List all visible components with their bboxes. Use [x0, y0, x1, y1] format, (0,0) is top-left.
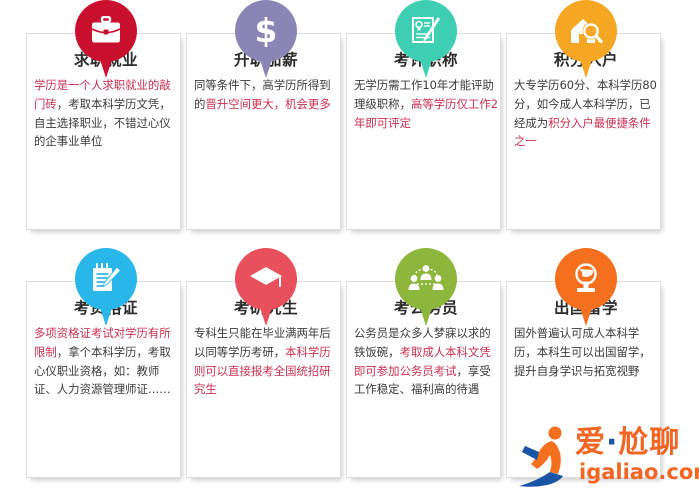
card-body: 无学历需工作10年才能评助理级职称，高等学历仅工作2年即可评定 — [354, 76, 499, 132]
card-text-highlight: 晋升空间更大，机会更多 — [205, 97, 330, 111]
card-body: 国外普遍认可成人本科学历，本科生可以出国留学，提升自身学识与拓宽视野 — [514, 324, 659, 380]
card-body: 大专学历60分、本科学历80分，如今成人本科学历，已经成为积分入户最便捷条件之一 — [514, 76, 659, 151]
card-qualification-certificate[interactable]: 考资格证 多项资格证考试对学历有所限制，拿个本科学历，考取心仪职业资格，如：教师… — [26, 248, 186, 498]
card-body: 专科生只能在毕业满两年后以同等学历考研，本科学历则可以直接报考全国统招研究生 — [194, 324, 339, 399]
infographic-board: 求职就业 学历是一个人求职就业的敲门砖，考取本科学历文凭，自主选择职业，不错过心… — [0, 0, 699, 500]
card-body: 公务员是众多人梦寐以求的铁饭碗，考取成人本科文凭即可参加公务员考试，享受工作稳定… — [354, 324, 499, 399]
card-body: 学历是一个人求职就业的敲门砖，考取本科学历文凭，自主选择职业，不错过心仪的企事业… — [34, 76, 179, 151]
card-body: 多项资格证考试对学历有所限制，拿个本科学历，考取心仪职业资格，如：教师证、人力资… — [34, 324, 179, 399]
card-title: 考公务员 — [346, 296, 506, 318]
card-title: 考资格证 — [26, 296, 186, 318]
card-title: 升职加薪 — [186, 48, 346, 70]
card-body: 同等条件下，高学历所得到的晋升空间更大，机会更多 — [194, 76, 339, 114]
card-professional-title[interactable]: 考评职称 无学历需工作10年才能评助理级职称，高等学历仅工作2年即可评定 — [346, 0, 506, 250]
card-title: 考评职称 — [346, 48, 506, 70]
card-job-employment[interactable]: 求职就业 学历是一个人求职就业的敲门砖，考取本科学历文凭，自主选择职业，不错过心… — [26, 0, 186, 250]
card-row-2: 考资格证 多项资格证考试对学历有所限制，拿个本科学历，考取心仪职业资格，如：教师… — [0, 248, 699, 498]
card-row-1: 求职就业 学历是一个人求职就业的敲门砖，考取本科学历文凭，自主选择职业，不错过心… — [0, 0, 699, 250]
card-civil-servant-exam[interactable]: 考公务员 公务员是众多人梦寐以求的铁饭碗，考取成人本科文凭即可参加公务员考试，享… — [346, 248, 506, 498]
card-title: 考研究生 — [186, 296, 346, 318]
card-study-abroad[interactable]: 出国留学 国外普遍认可成人本科学历，本科生可以出国留学，提升自身学识与拓宽视野 — [506, 248, 666, 498]
card-postgraduate-exam[interactable]: 考研究生 专科生只能在毕业满两年后以同等学历考研，本科学历则可以直接报考全国统招… — [186, 248, 346, 498]
card-title: 出国留学 — [506, 296, 666, 318]
card-text-plain: 国外普遍认可成人本科学历，本科生可以出国留学，提升自身学识与拓宽视野 — [514, 326, 651, 378]
card-points-residency[interactable]: 积分入户 大专学历60分、本科学历80分，如今成人本科学历，已经成为积分入户最便… — [506, 0, 666, 250]
card-title: 积分入户 — [506, 48, 666, 70]
card-title: 求职就业 — [26, 48, 186, 70]
card-promotion-raise[interactable]: $ 升职加薪 同等条件下，高学历所得到的晋升空间更大，机会更多 — [186, 0, 346, 250]
